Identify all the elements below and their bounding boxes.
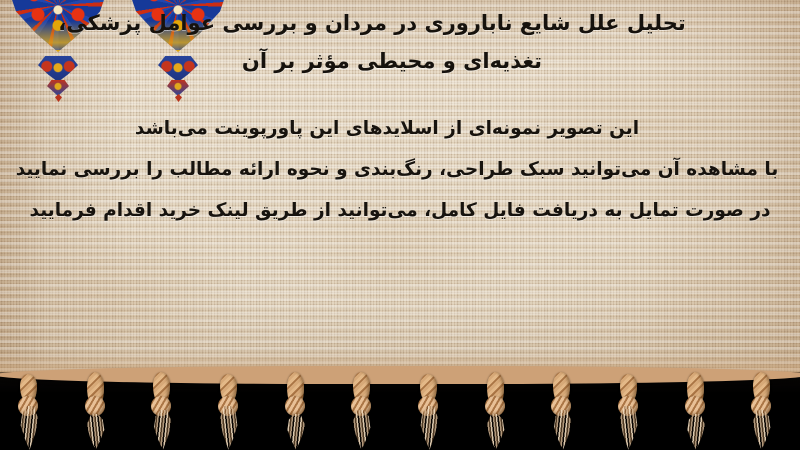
tassel-brush (283, 414, 309, 450)
tassel-brush (749, 410, 775, 450)
fringe-tassel (479, 370, 515, 450)
slide-body-line-2: با مشاهده آن می‌توانید سبک طراحی، رنگ‌بن… (10, 149, 790, 190)
fringe-tassel (145, 370, 181, 450)
tassel-brush (549, 410, 575, 450)
fringe-tassel (212, 370, 248, 450)
tassel-brush (83, 414, 109, 450)
tassel-brush (683, 414, 709, 450)
slide-title-line-2: تغذیه‌ای و محیطی مؤثر بر آن (12, 42, 772, 80)
tassel-brush (149, 410, 175, 450)
fringe-tassel (612, 370, 648, 450)
slide-title-line-1: تحلیل علل شایع ناباروری در مردان و بررسی… (12, 4, 772, 42)
tassel-knot-lower (485, 396, 505, 416)
tassel-brush (349, 410, 375, 450)
tassel-brush (483, 414, 509, 450)
fringe-tassel (679, 370, 715, 450)
tassel-knot-lower (285, 396, 305, 416)
fringe-tassel (279, 370, 315, 450)
slide-body: این تصویر نمونه‌ای از اسلایدهای این پاور… (10, 108, 790, 231)
slide-canvas: تحلیل علل شایع ناباروری در مردان و بررسی… (0, 0, 800, 450)
fringe-tassel (345, 370, 381, 450)
fringe-tassel (412, 370, 448, 450)
slide-body-line-1: این تصویر نمونه‌ای از اسلایدهای این پاور… (10, 108, 790, 149)
carpet-fringe-tassels (0, 370, 800, 450)
fringe-tassel (545, 370, 581, 450)
tassel-knot-lower (85, 396, 105, 416)
fringe-tassel (12, 370, 48, 450)
fringe-tassel (79, 370, 115, 450)
tassel-knot-lower (685, 396, 705, 416)
slide-body-line-3: در صورت تمایل به دریافت فایل کامل، می‌تو… (10, 190, 790, 231)
slide-title: تحلیل علل شایع ناباروری در مردان و بررسی… (12, 4, 772, 80)
text-layer: تحلیل علل شایع ناباروری در مردان و بررسی… (0, 0, 800, 378)
fringe-tassel (745, 370, 781, 450)
